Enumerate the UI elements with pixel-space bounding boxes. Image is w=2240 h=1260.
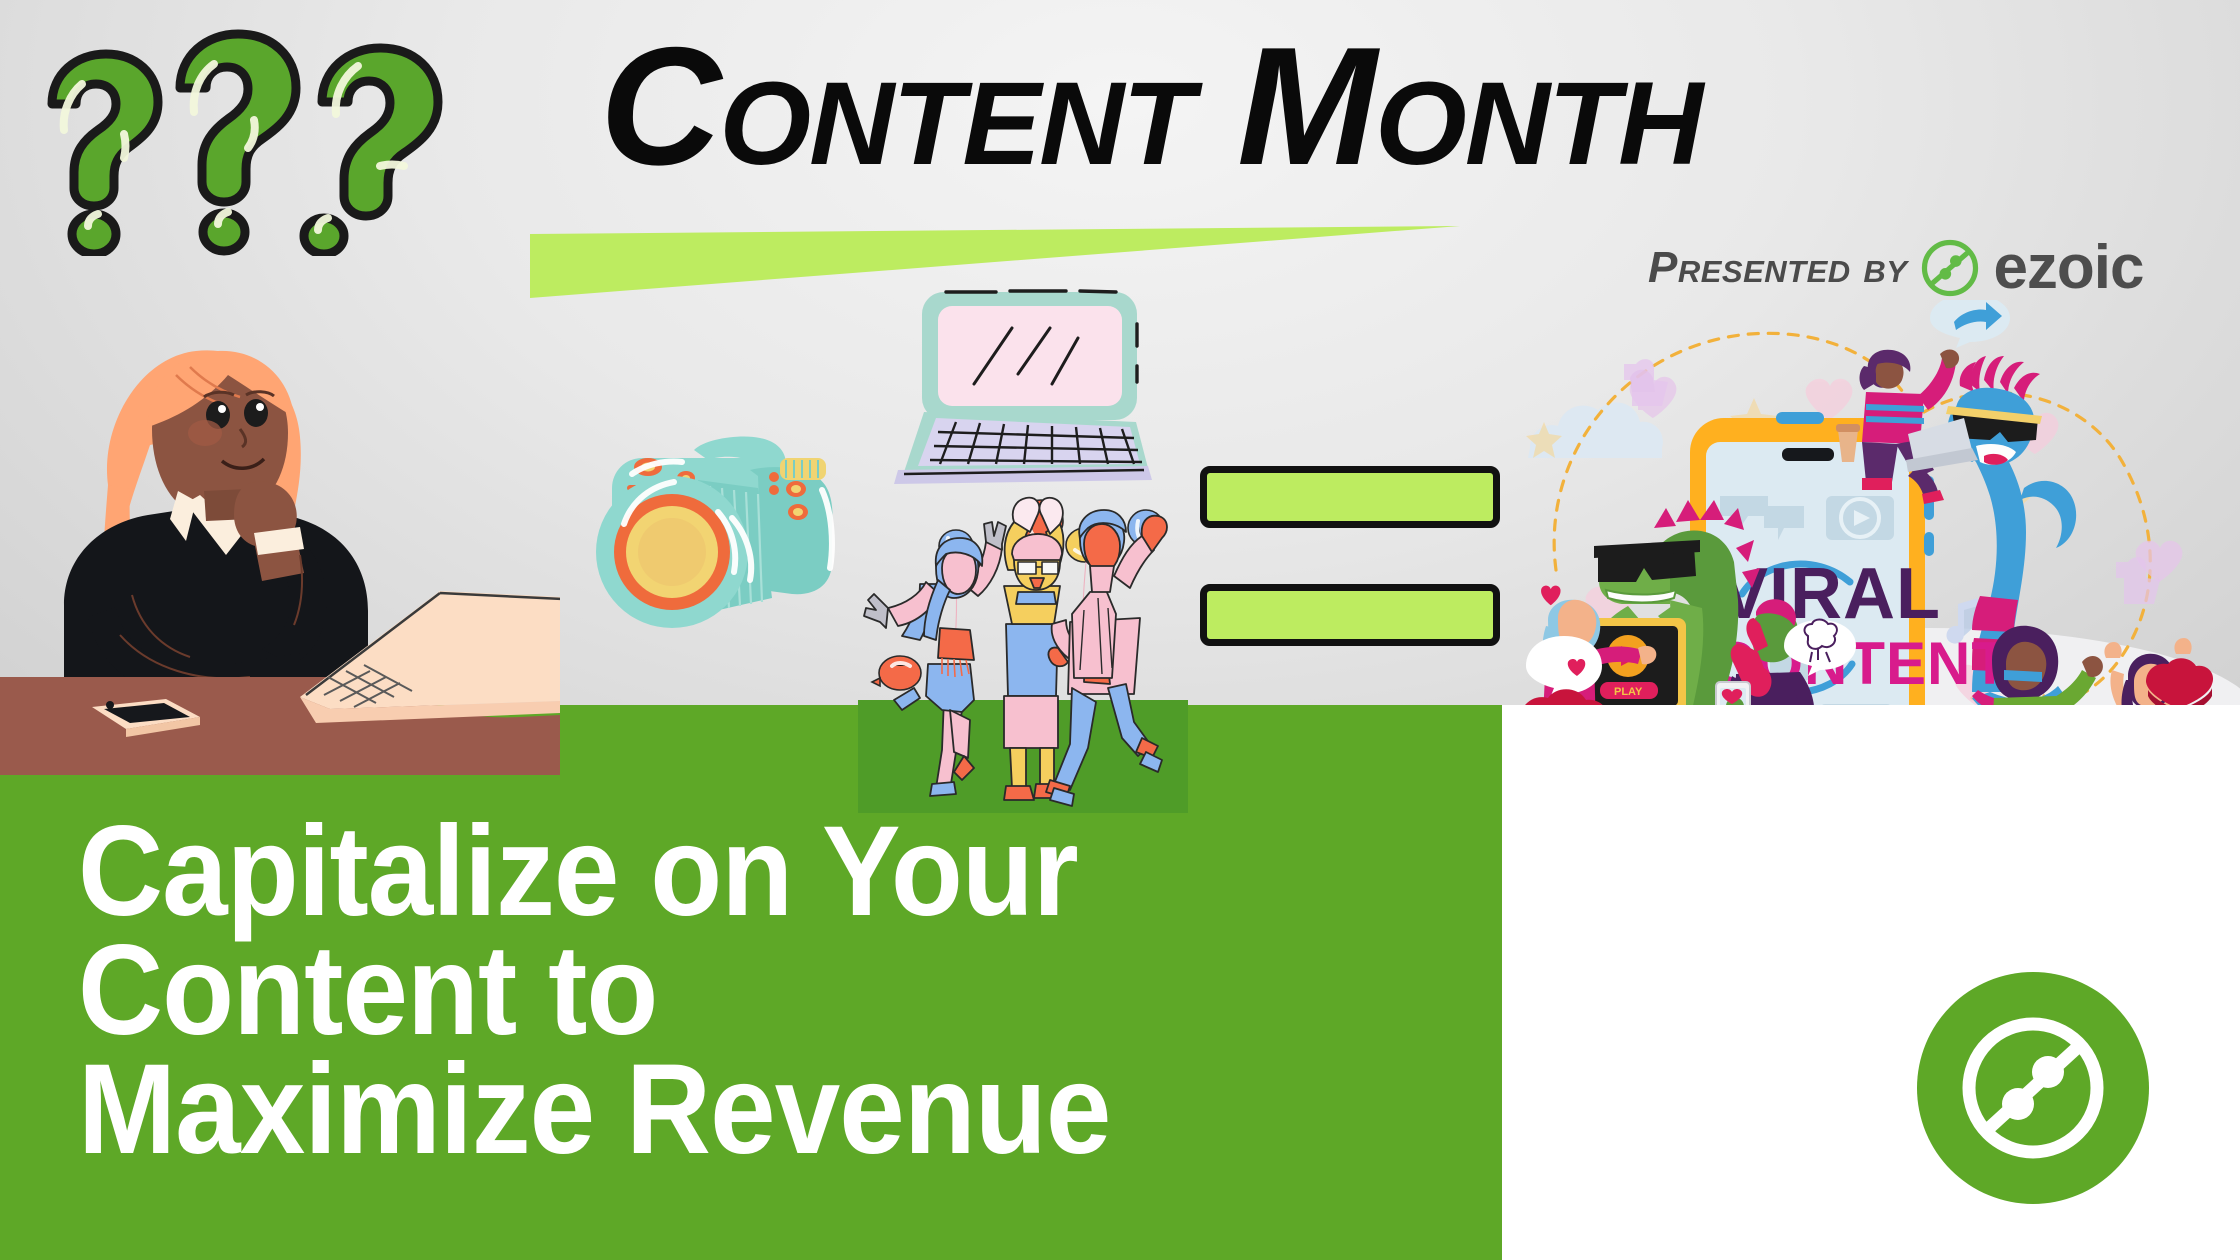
banner-canvas: Content Month Presented by ezoic [0,0,2240,1260]
question-mark-cluster-icon [28,26,448,256]
tablet-play-label: PLAY [1614,686,1643,698]
ezoic-logo-badge[interactable] [1917,972,2149,1204]
celebrating-people-illustration [858,488,1188,813]
headline-line-1: Capitalize on Your [78,812,1366,931]
title-word-content: Content [600,12,1192,200]
green-placeholder-bar-2[interactable] [1200,584,1500,646]
title-word-month: Month [1237,12,1701,200]
ezoic-logo-icon [1921,239,1979,297]
headline-line-2: Content to [78,931,1366,1050]
ezoic-wordmark: ezoic [1993,232,2143,303]
presented-by-group: Presented by ezoic [1648,232,2144,303]
page-headline: Capitalize on Your Content to Maximize R… [78,812,1366,1169]
green-placeholder-bar-1[interactable] [1200,466,1500,528]
woman-at-laptop-illustration [0,305,560,775]
camera-illustration [590,420,850,655]
laptop-illustration [890,272,1155,492]
headline-line-3: Maximize Revenue [78,1050,1366,1169]
banner-title: Content Month [600,22,1701,190]
presented-by-label: Presented by [1648,243,1907,293]
placeholder-bars-group [1200,466,1500,646]
